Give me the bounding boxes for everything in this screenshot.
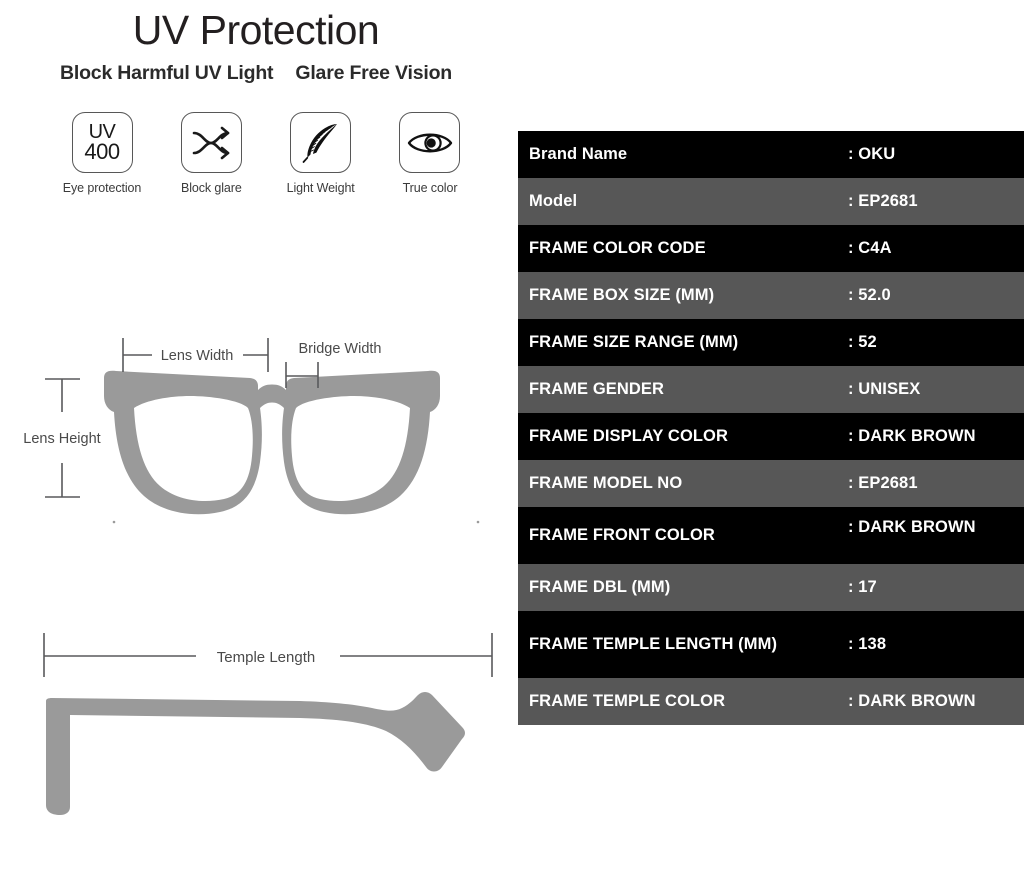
feature-caption: Light Weight <box>287 181 355 195</box>
header-subtitles: Block Harmful UV Light Glare Free Vision <box>0 62 512 85</box>
spec-key: FRAME DBL (MM) <box>518 578 848 597</box>
feature-block-glare: Block glare <box>163 112 259 195</box>
temple-length-label: Temple Length <box>217 649 315 666</box>
feather-icon <box>290 112 351 173</box>
lens-width-label: Lens Width <box>161 348 234 364</box>
spec-key: FRAME FRONT COLOR <box>518 526 848 545</box>
table-row: FRAME GENDER : UNISEX <box>518 366 1024 413</box>
spec-value: : UNISEX <box>848 380 1024 399</box>
spec-value: : OKU <box>848 145 1024 164</box>
spec-value: : 52 <box>848 333 1024 352</box>
table-row: FRAME COLOR CODE : C4A <box>518 225 1024 272</box>
spec-key: FRAME GENDER <box>518 380 848 399</box>
table-row: FRAME DBL (MM) : 17 <box>518 564 1024 611</box>
feature-caption: Block glare <box>181 181 242 195</box>
spec-key: FRAME TEMPLE COLOR <box>518 692 848 711</box>
uv400-icon: UV 400 <box>72 112 133 173</box>
spec-value: : DARK BROWN <box>848 692 1024 711</box>
temple-shape <box>46 692 465 815</box>
table-row: FRAME BOX SIZE (MM) : 52.0 <box>518 272 1024 319</box>
spec-value: : 138 <box>848 635 1024 654</box>
feature-eye-protection: UV 400 Eye protection <box>54 112 150 195</box>
bridge-width-label: Bridge Width <box>298 341 381 357</box>
specification-table: Brand Name : OKU Model : EP2681 FRAME CO… <box>518 131 1024 725</box>
table-row: FRAME DISPLAY COLOR : DARK BROWN <box>518 413 1024 460</box>
spec-value: : DARK BROWN <box>848 427 1024 446</box>
uv400-badge-line2: 400 <box>84 142 119 162</box>
frame-shape <box>104 371 440 515</box>
table-row: FRAME TEMPLE LENGTH (MM) : 138 <box>518 611 1024 678</box>
table-row: Brand Name : OKU <box>518 131 1024 178</box>
spec-key: FRAME TEMPLE LENGTH (MM) <box>518 635 848 654</box>
feature-icon-row: UV 400 Eye protection Block glare <box>54 112 478 208</box>
table-row: FRAME MODEL NO : EP2681 <box>518 460 1024 507</box>
spec-value: : C4A <box>848 239 1024 258</box>
eyeglasses-temple-diagram: Temple Length <box>0 615 512 860</box>
spec-key: FRAME MODEL NO <box>518 474 848 493</box>
spec-value: : DARK BROWN <box>848 518 1024 537</box>
spec-key: FRAME BOX SIZE (MM) <box>518 286 848 305</box>
spec-key: FRAME SIZE RANGE (MM) <box>518 333 848 352</box>
uv-protection-panel: UV Protection Block Harmful UV Light Gla… <box>0 0 512 886</box>
feature-light-weight: Light Weight <box>273 112 369 195</box>
lens-height-label: Lens Height <box>23 431 100 447</box>
subtitle-glare-free: Glare Free Vision <box>295 62 452 85</box>
product-spec-page: UV Protection Block Harmful UV Light Gla… <box>0 0 1024 886</box>
eyeglasses-front-diagram: Lens Width Bridge Width Lens Height <box>0 300 512 570</box>
spec-value: : EP2681 <box>848 474 1024 493</box>
spec-key: Model <box>518 192 848 211</box>
table-row: FRAME SIZE RANGE (MM) : 52 <box>518 319 1024 366</box>
feature-caption: Eye protection <box>63 181 142 195</box>
spec-key: FRAME COLOR CODE <box>518 239 848 258</box>
spec-value: : 52.0 <box>848 286 1024 305</box>
uv-header: UV Protection Block Harmful UV Light Gla… <box>0 0 512 105</box>
page-title: UV Protection <box>0 4 512 56</box>
table-row: Model : EP2681 <box>518 178 1024 225</box>
spec-value: : EP2681 <box>848 192 1024 211</box>
feature-true-color: True color <box>382 112 478 195</box>
table-row: FRAME FRONT COLOR : DARK BROWN <box>518 507 1024 564</box>
spec-value: : 17 <box>848 578 1024 597</box>
table-row: FRAME TEMPLE COLOR : DARK BROWN <box>518 678 1024 725</box>
shuffle-arrows-icon <box>181 112 242 173</box>
spec-key: FRAME DISPLAY COLOR <box>518 427 848 446</box>
subtitle-block-uv: Block Harmful UV Light <box>60 62 273 85</box>
spec-key: Brand Name <box>518 145 848 164</box>
feature-caption: True color <box>403 181 458 195</box>
eye-icon <box>399 112 460 173</box>
